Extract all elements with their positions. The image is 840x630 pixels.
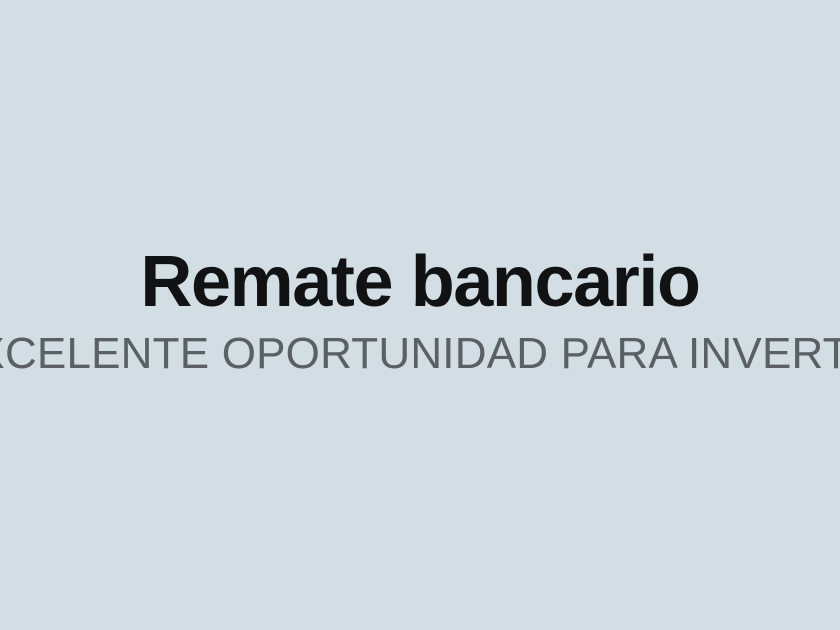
banner-text-block: Remate bancario EXCELENTE OPORTUNIDAD PA… [0, 243, 840, 378]
banner-subhead-row: EXCELENTE OPORTUNIDAD PARA INVERTIR [0, 330, 840, 378]
banner-subhead: EXCELENTE OPORTUNIDAD PARA INVERTIR [0, 330, 840, 378]
banner-headline: Remate bancario [140, 243, 699, 321]
promo-banner: Remate bancario EXCELENTE OPORTUNIDAD PA… [0, 0, 840, 630]
